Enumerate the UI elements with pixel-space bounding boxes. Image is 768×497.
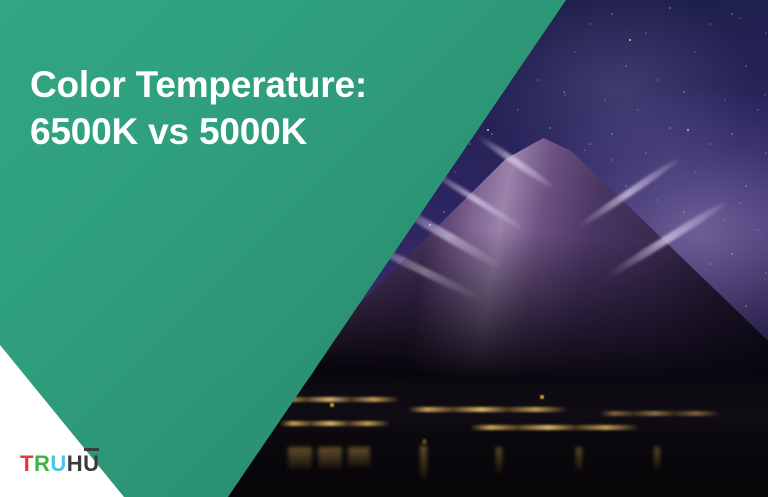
- light-reflection: [654, 447, 660, 469]
- street-light: [330, 403, 334, 407]
- logo-letter-u-macron: U: [83, 453, 99, 475]
- building-light-row: [408, 407, 568, 412]
- building-light-row: [470, 425, 640, 430]
- page-title: Color Temperature: 6500K vs 5000K: [30, 61, 460, 155]
- macron-bar: [84, 448, 98, 451]
- logo-letter-t: T: [20, 453, 34, 475]
- light-reflection: [348, 447, 370, 467]
- logo-letter-u: U: [50, 453, 66, 475]
- street-light: [540, 395, 544, 399]
- logo-letter-h: H: [67, 453, 83, 475]
- building-light-row: [600, 411, 720, 416]
- light-reflection: [318, 447, 342, 469]
- light-reflection: [576, 447, 582, 471]
- banner: Color Temperature: 6500K vs 5000K T R U …: [0, 0, 768, 497]
- light-reflection: [288, 447, 312, 469]
- truhu-logo[interactable]: T R U H U: [20, 453, 100, 475]
- light-reflection: [496, 447, 502, 473]
- light-reflection: [420, 445, 427, 479]
- logo-letter-r: R: [34, 453, 50, 475]
- logo-letter-u2: U: [83, 451, 99, 476]
- building-light-row: [280, 421, 390, 426]
